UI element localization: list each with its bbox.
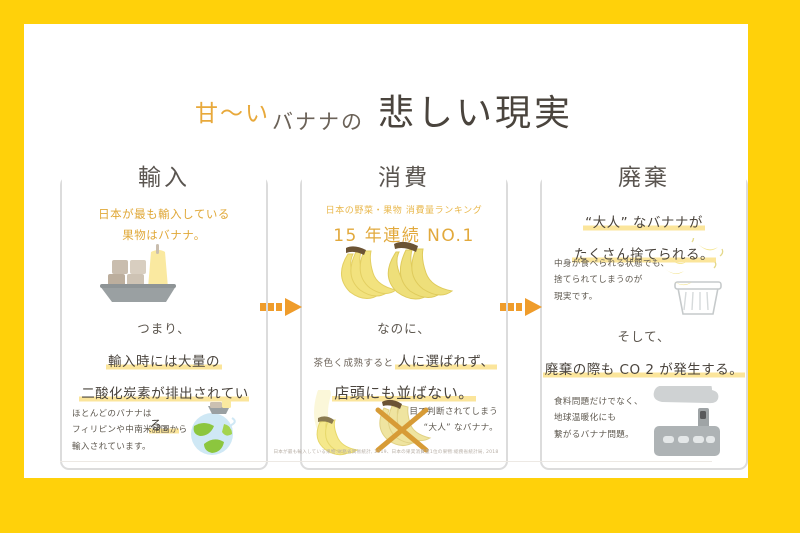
- panel-consumption-body: 日本の野菜・果物 消費量ランキング 15 年連続 NO.1 なのに、: [302, 178, 506, 468]
- arrow-import-to-consumption: [260, 296, 304, 318]
- panel-import: 輸入 日本が最も輸入している 果物はバナナ。 つまり、 輸入時には大量の: [60, 176, 268, 470]
- trash-can-with-bananas-icon: [662, 238, 734, 316]
- panel-disposal: 廃棄 “大人” なバナナが たくさん捨てられる。 中身が食べられる状態でも、 捨…: [540, 176, 748, 470]
- panel-consumption-mid: なのに、: [302, 318, 506, 337]
- poster-frame: 甘〜い バナナの 悲しい現実 輸入 日本が最も輸入している 果物はバナナ。: [24, 24, 748, 478]
- panel-import-mid: つまり、: [62, 318, 266, 337]
- panel-disposal-note: 中身が食べられる状態でも、 捨てられてしまうのが 現実です。: [554, 256, 674, 305]
- poster-title: 甘〜い バナナの 悲しい現実: [24, 72, 748, 134]
- source-footnote: 日本が最も輸入している果物:財務省貿易統計, 2019、日本の果実消費量1位の果…: [24, 449, 748, 455]
- title-main-text: 悲しい現実: [374, 96, 577, 134]
- panel-consumption-highlight-pre: 茶色く成熟すると: [311, 358, 395, 369]
- panel-disposal-highlight: 廃棄の際も CO 2 が発生する。: [542, 353, 746, 385]
- panel-disposal-body: “大人” なバナナが たくさん捨てられる。 中身が食べられる状態でも、 捨てられ…: [542, 178, 746, 468]
- cargo-ship-icon: [96, 240, 208, 302]
- title-banana-text: バナナの: [272, 106, 364, 136]
- footnote-divider: [60, 461, 712, 462]
- banana-bunches-icon: [330, 240, 458, 310]
- panel-consumption: 消費 日本の野菜・果物 消費量ランキング 15 年連続 NO.1: [300, 176, 508, 470]
- title-sweet-text: 甘〜い: [195, 94, 270, 128]
- arrow-consumption-to-disposal: [500, 296, 544, 318]
- panel-consumption-ranking-label: 日本の野菜・果物 消費量ランキング: [314, 204, 494, 218]
- panel-disposal-mid: そして、: [542, 326, 746, 345]
- panel-import-body: 日本が最も輸入している 果物はバナナ。 つまり、 輸入時には大量の 二酸化炭素が…: [62, 178, 266, 468]
